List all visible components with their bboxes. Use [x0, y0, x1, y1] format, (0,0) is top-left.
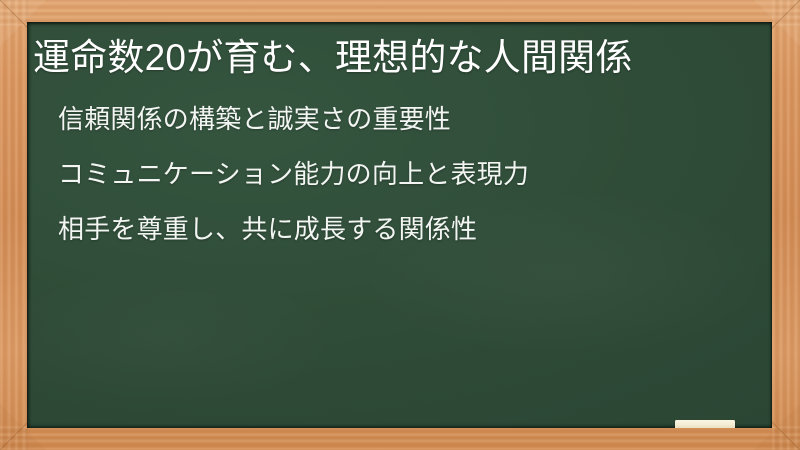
frame-grain-bottom: [0, 426, 800, 450]
slide-bullet-list: 信頼関係の構築と誠実さの重要性 コミュニケーション能力の向上と表現力 相手を尊重…: [58, 106, 758, 271]
frame-grain-right: [772, 0, 800, 450]
bullet-item: 相手を尊重し、共に成長する関係性: [58, 216, 758, 271]
frame-grain-left: [0, 0, 28, 450]
chalkboard: 運命数20が育む、理想的な人間関係 信頼関係の構築と誠実さの重要性 コミュニケー…: [27, 22, 772, 428]
bullet-item: コミュニケーション能力の向上と表現力: [58, 161, 758, 216]
slide-title: 運命数20が育む、理想的な人間関係: [33, 34, 749, 81]
bullet-item: 信頼関係の構築と誠実さの重要性: [58, 106, 758, 161]
board-content: 運命数20が育む、理想的な人間関係 信頼関係の構築と誠実さの重要性 コミュニケー…: [27, 22, 772, 428]
chalkboard-slide: 運命数20が育む、理想的な人間関係 信頼関係の構築と誠実さの重要性 コミュニケー…: [0, 0, 800, 450]
chalk-stick: [675, 420, 735, 428]
